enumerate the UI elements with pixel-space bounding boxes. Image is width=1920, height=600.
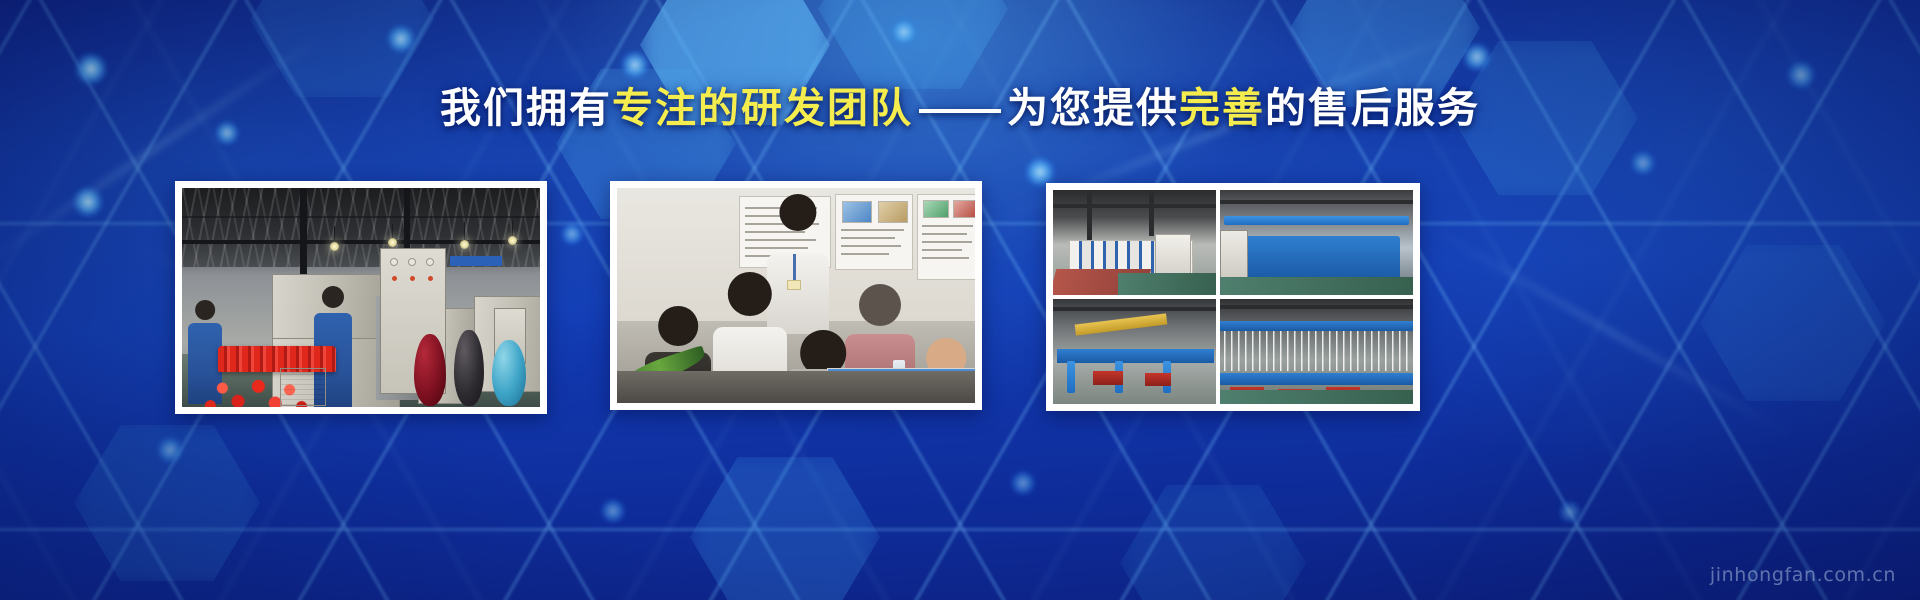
blue-pipe xyxy=(1224,216,1409,225)
fixture-rail xyxy=(1220,321,1413,331)
technical-poster xyxy=(917,194,975,280)
photo-panel-team-meeting[interactable] xyxy=(610,181,982,410)
headline-segment-4: 完善 xyxy=(1179,85,1265,131)
fixture-base-rail xyxy=(1220,373,1413,385)
conveyor-frame xyxy=(1057,349,1214,363)
photo-factory-line-image xyxy=(182,188,540,407)
technical-poster xyxy=(835,194,913,270)
product-vase-red xyxy=(414,334,446,406)
headline-segment-3: 为您提供 xyxy=(1007,85,1179,131)
photo-production-collage-image xyxy=(1053,190,1413,404)
headline-segment-5: 的售后服务 xyxy=(1265,85,1480,131)
yellow-crane-arm xyxy=(1075,313,1168,335)
collage-quadrant-conveyor xyxy=(1053,299,1216,404)
photo-panel-production-collage[interactable] xyxy=(1046,183,1420,411)
promo-banner: 我们拥有专注的研发团队——为您提供完善的售后服务 xyxy=(0,0,1920,600)
headline-dash: —— xyxy=(913,85,1007,131)
meeting-table xyxy=(617,371,975,403)
photo-team-meeting-image xyxy=(617,188,975,403)
site-watermark: jinhongfan.com.cn xyxy=(1710,564,1896,586)
photo-panel-factory-line[interactable] xyxy=(175,181,547,414)
red-cart xyxy=(1093,371,1123,385)
collage-quadrant-hanging-fixtures xyxy=(1220,299,1413,404)
ceiling-lamp xyxy=(508,236,517,245)
ceiling-lamp xyxy=(330,242,339,251)
hanging-hooks xyxy=(1224,331,1409,371)
ceiling-lamp xyxy=(460,240,469,249)
collage-quadrant-blue-oven xyxy=(1220,190,1413,295)
plastic-crate xyxy=(280,368,326,406)
banner-headline: 我们拥有专注的研发团队——为您提供完善的售后服务 xyxy=(0,84,1920,132)
ceiling-lamp xyxy=(388,238,397,247)
cabinet-label-strip xyxy=(450,256,502,266)
factory-roof xyxy=(182,188,540,267)
headline-segment-2: 专注的研发团队 xyxy=(612,85,913,131)
headline-segment-1: 我们拥有 xyxy=(440,85,612,131)
product-vase-dark xyxy=(454,330,484,406)
blue-oven-body xyxy=(1230,236,1400,280)
product-vase-cyan xyxy=(492,340,526,406)
collage-quadrant-coating-line xyxy=(1053,190,1216,295)
red-cart xyxy=(1145,373,1171,386)
